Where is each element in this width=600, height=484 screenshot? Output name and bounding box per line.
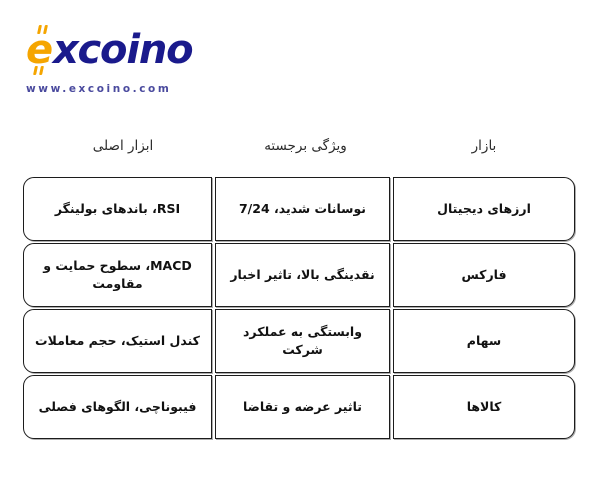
table-row: سهام وابستگی به عملکرد شرکت کندل استیک، … — [26, 309, 575, 373]
cell-tool: فیبوناچی، الگوهای فصلی — [23, 375, 212, 439]
logo-wordmark-text: xcoino — [53, 30, 192, 70]
column-header-market: بازار — [393, 137, 575, 156]
column-header-tool: ابزار اصلی — [28, 137, 218, 156]
cell-market: فارکس — [393, 243, 575, 307]
cell-feature: وابستگی به عملکرد شرکت — [215, 309, 390, 373]
cell-feature: نقدینگی بالا، تاثیر اخبار — [215, 243, 390, 307]
cell-tool: کندل استیک، حجم معاملات — [23, 309, 212, 373]
table-row: کالاها تاثیر عرضه و تقاضا فیبوناچی، الگو… — [26, 375, 575, 439]
cell-feature: نوسانات شدید، 7/24 — [215, 177, 390, 241]
cell-market: سهام — [393, 309, 575, 373]
brand-logo: e xcoino www.excoino.com — [26, 30, 196, 95]
comparison-table: بازار ویژگی برجسته ابزار اصلی ارزهای دیج… — [26, 128, 575, 441]
table-row: ارزهای دیجیتال نوسانات شدید، 7/24 RSI، ب… — [26, 177, 575, 241]
cell-feature: تاثیر عرضه و تقاضا — [215, 375, 390, 439]
logo-website-url: www.excoino.com — [26, 83, 196, 95]
table-row: فارکس نقدینگی بالا، تاثیر اخبار MACD، سط… — [26, 243, 575, 307]
cell-market: ارزهای دیجیتال — [393, 177, 575, 241]
logo-wordmark: e xcoino — [26, 30, 196, 76]
bitcoin-e-icon: e — [26, 30, 53, 70]
table-body: ارزهای دیجیتال نوسانات شدید، 7/24 RSI، ب… — [26, 177, 575, 439]
cell-market: کالاها — [393, 375, 575, 439]
table-header-row: بازار ویژگی برجسته ابزار اصلی — [26, 128, 575, 164]
column-header-feature: ویژگی برجسته — [218, 137, 393, 156]
cell-tool: RSI، باندهای بولینگر — [23, 177, 212, 241]
cell-tool: MACD، سطوح حمایت و مقاومت — [23, 243, 212, 307]
